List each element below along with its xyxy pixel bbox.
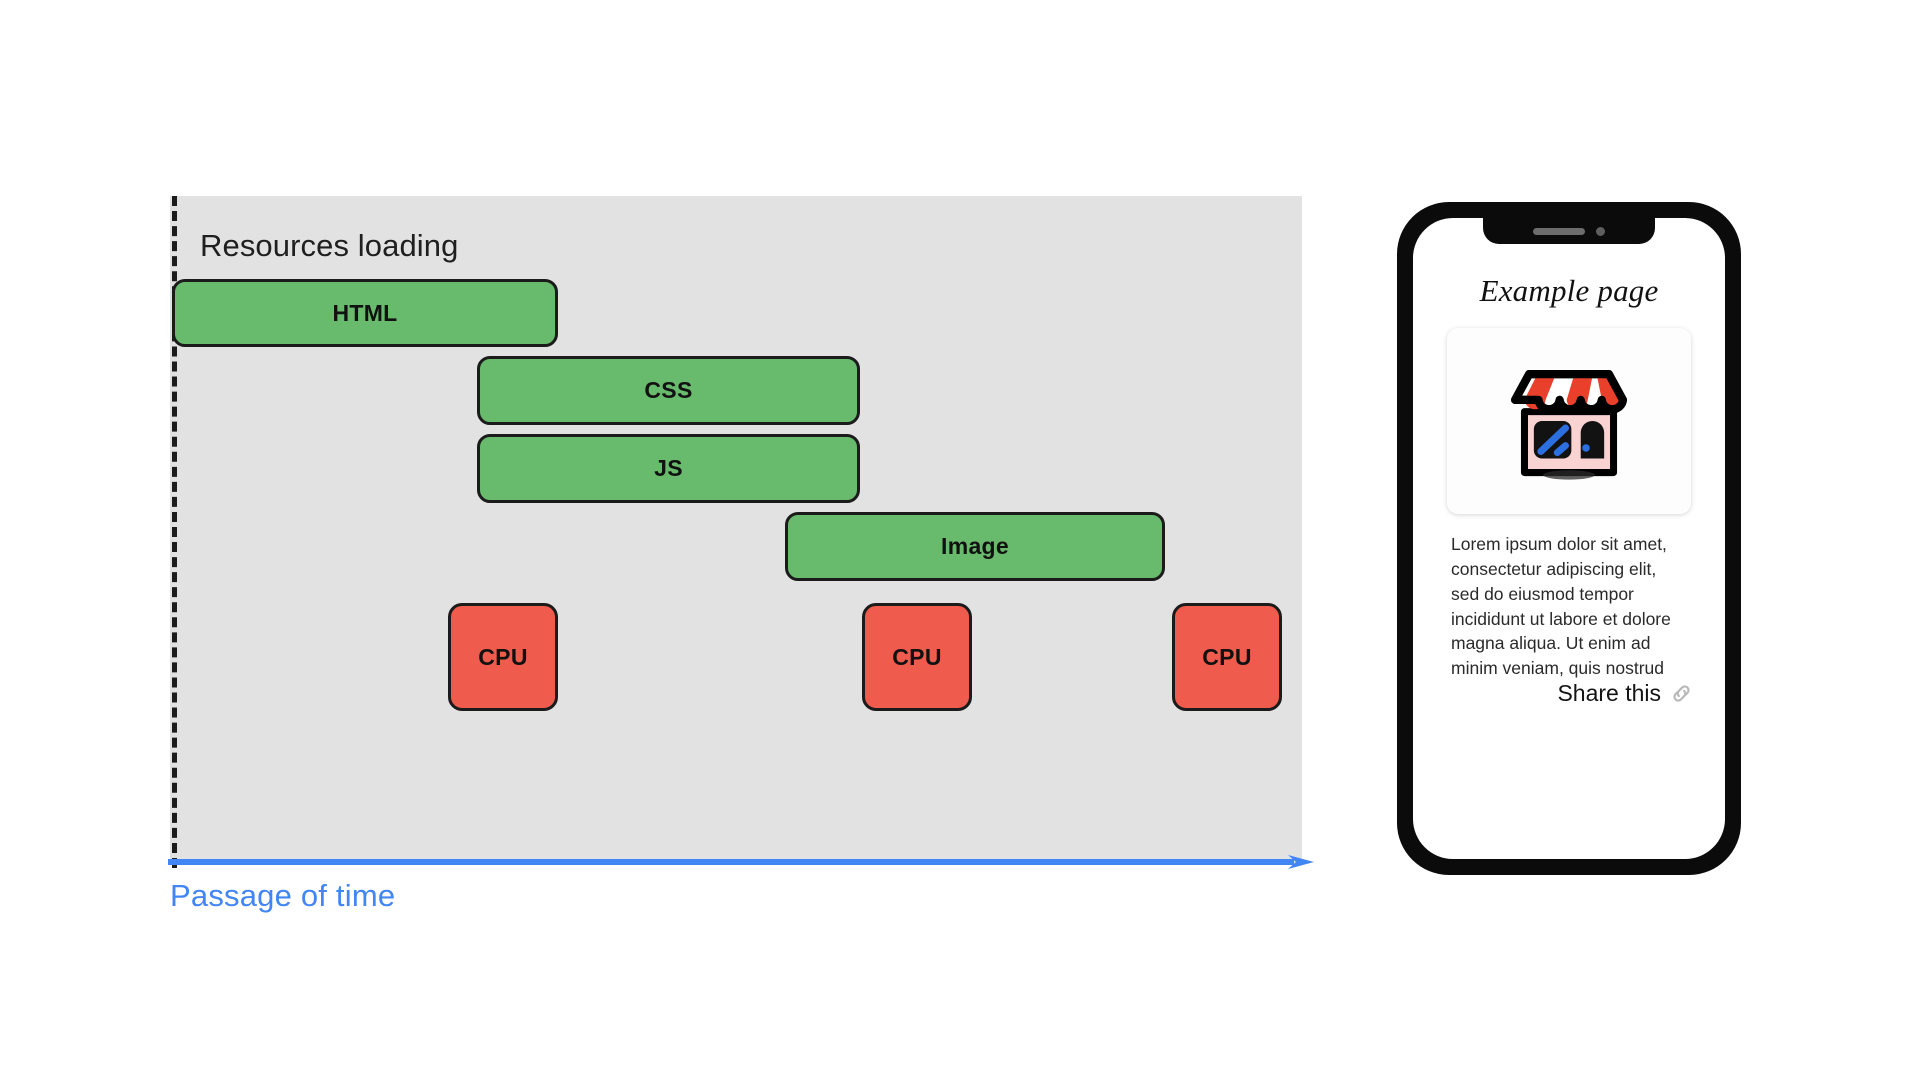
resource-bar-label: CSS	[644, 377, 692, 404]
resource-loading-timeline: Resources loading HTML CSS JS Image CPU …	[170, 196, 1302, 864]
storefront-emoji-icon	[1494, 346, 1644, 496]
front-camera-icon	[1596, 227, 1605, 236]
cpu-task-label: CPU	[1202, 644, 1251, 671]
page-title: Example page	[1413, 273, 1725, 309]
cpu-task-block-3: CPU	[1172, 603, 1282, 711]
hero-image-card	[1447, 328, 1691, 514]
cpu-task-label: CPU	[892, 644, 941, 671]
passage-of-time-axis-arrow	[168, 855, 1318, 877]
share-this-link[interactable]: Share this	[1557, 680, 1694, 707]
passage-of-time-label: Passage of time	[170, 878, 395, 914]
cpu-task-block-2: CPU	[862, 603, 972, 711]
resource-bar-label: JS	[654, 455, 683, 482]
resource-bar-js: JS	[477, 434, 860, 503]
panel-title: Resources loading	[200, 228, 458, 264]
share-this-label: Share this	[1557, 680, 1661, 707]
cpu-task-block-1: CPU	[448, 603, 558, 711]
resource-bar-label: HTML	[332, 300, 397, 327]
resource-bar-html: HTML	[172, 279, 558, 347]
page-body-text: Lorem ipsum dolor sit amet, consectetur …	[1451, 532, 1681, 681]
earpiece-speaker-icon	[1533, 228, 1585, 235]
diagram-canvas: Resources loading HTML CSS JS Image CPU …	[0, 0, 1920, 1080]
resource-bar-css: CSS	[477, 356, 860, 425]
resource-bar-label: Image	[941, 533, 1009, 560]
cpu-task-label: CPU	[478, 644, 527, 671]
phone-notch	[1483, 218, 1655, 244]
phone-mockup: Example page	[1397, 202, 1741, 875]
resource-bar-image: Image	[785, 512, 1165, 581]
link-chain-icon	[1669, 681, 1694, 706]
phone-screen: Example page	[1413, 218, 1725, 859]
